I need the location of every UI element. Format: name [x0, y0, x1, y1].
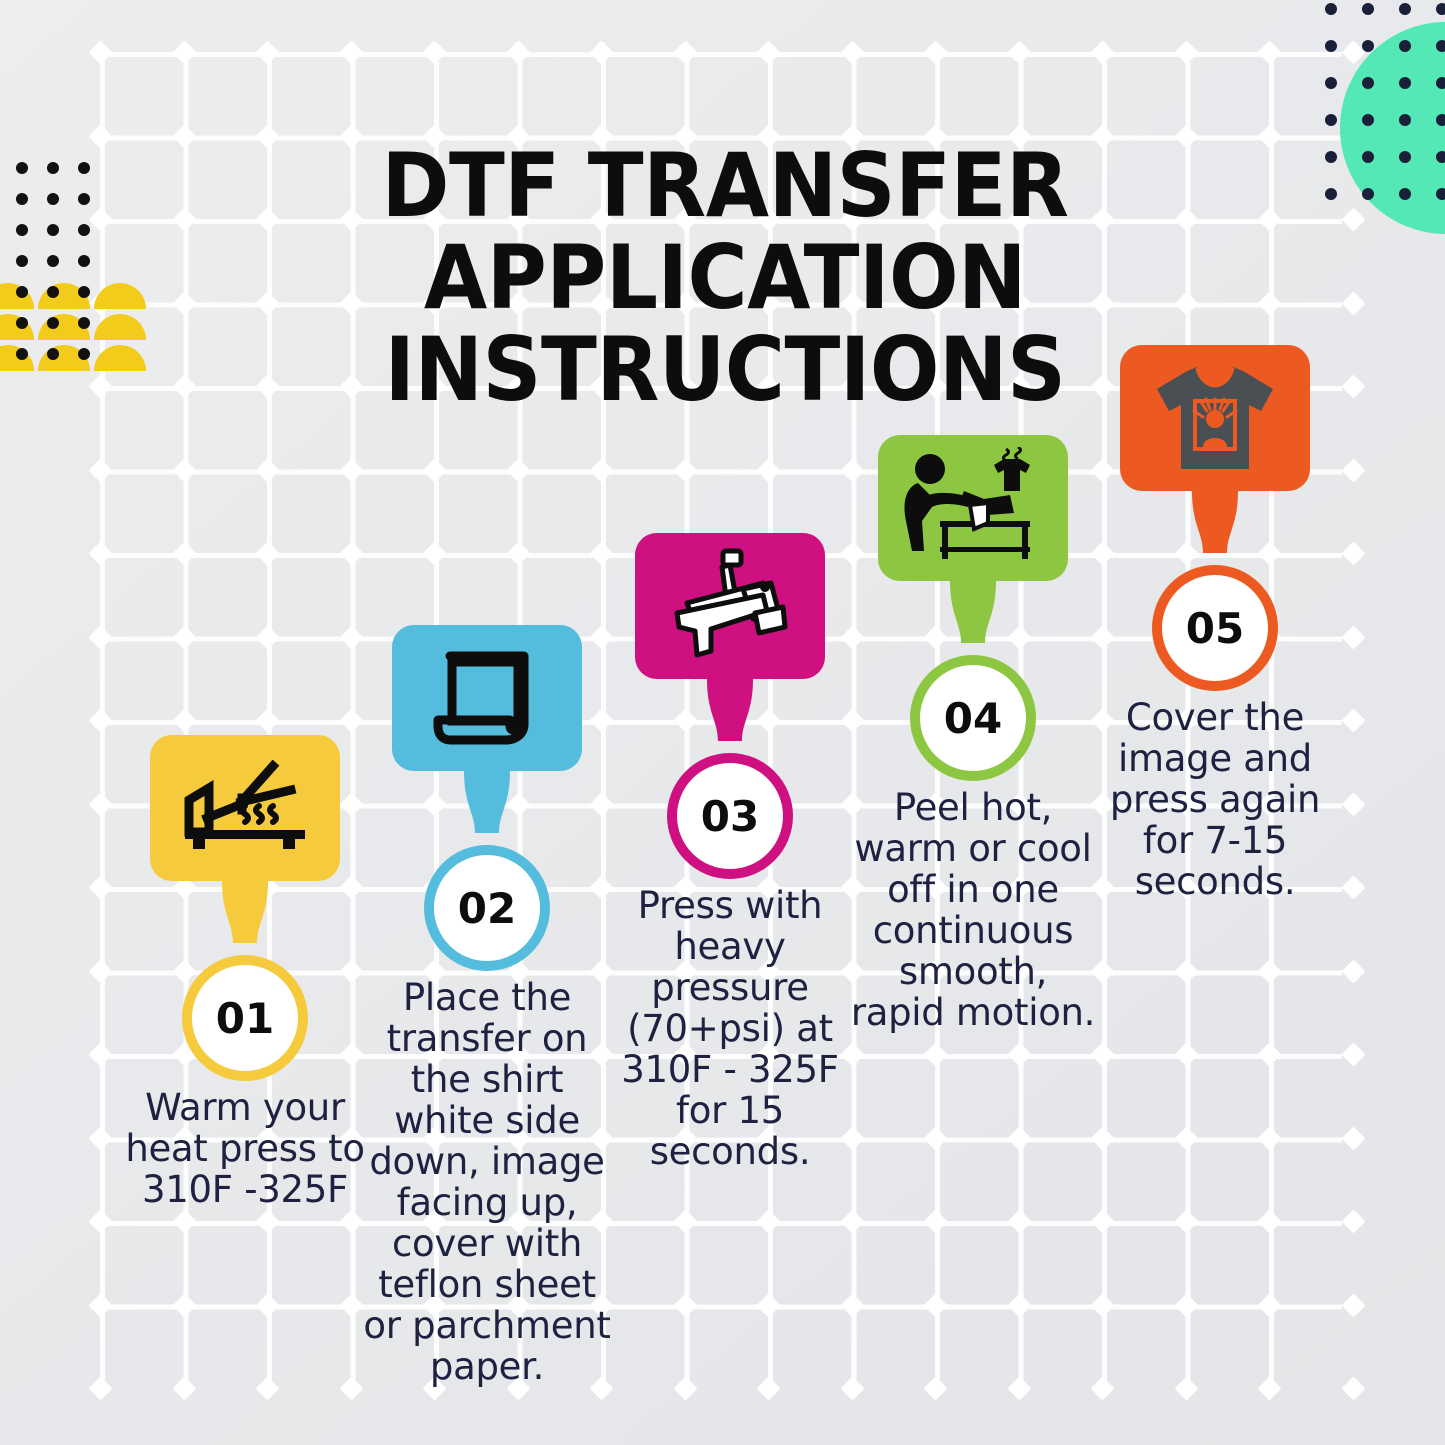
grid-node-diamond — [1090, 40, 1114, 64]
grid-node-diamond — [1174, 40, 1198, 64]
grid-node-diamond — [1257, 1293, 1281, 1317]
step-01-number-bubble[interactable]: 01 — [120, 955, 370, 1081]
grid-node-diamond — [923, 1376, 947, 1400]
grid-node-diamond — [1257, 291, 1281, 315]
grid-node-diamond — [255, 1376, 279, 1400]
step-01-number: 01 — [192, 965, 298, 1071]
decor-dot — [78, 348, 90, 360]
arch-shape — [94, 314, 146, 340]
grid-node-diamond — [1341, 374, 1365, 398]
decor-dot — [16, 286, 28, 298]
grid-node-diamond — [88, 458, 112, 482]
step-04-number-bubble[interactable]: 04 — [848, 655, 1098, 781]
grid-node-diamond — [673, 1293, 697, 1317]
grid-node-diamond — [756, 1376, 780, 1400]
grid-node-diamond — [255, 1293, 279, 1317]
grid-node-diamond — [506, 458, 530, 482]
grid-node-diamond — [88, 1126, 112, 1150]
grid-node-diamond — [255, 1209, 279, 1233]
grid-node-diamond — [172, 1293, 196, 1317]
grid-node-diamond — [589, 625, 613, 649]
grid-node-diamond — [1257, 124, 1281, 148]
grid-node-diamond — [88, 708, 112, 732]
decor-dot — [1325, 151, 1337, 163]
grid-node-diamond — [339, 541, 363, 565]
step-05-number: 05 — [1162, 575, 1268, 681]
step-02-number-bubble[interactable]: 02 — [362, 845, 612, 971]
grid-node-diamond — [1257, 40, 1281, 64]
grid-node-diamond — [1257, 207, 1281, 231]
grid-node-diamond — [840, 458, 864, 482]
grid-node-diamond — [1341, 291, 1365, 315]
grid-node-diamond — [1341, 792, 1365, 816]
grid-node-diamond — [1341, 1376, 1365, 1400]
grid-node-diamond — [88, 1376, 112, 1400]
decor-dot — [1325, 3, 1337, 15]
grid-node-diamond — [1174, 1126, 1198, 1150]
decor-dot — [1399, 40, 1411, 52]
grid-node-diamond — [255, 458, 279, 482]
grid-node-diamond — [172, 1209, 196, 1233]
grid-node-diamond — [1257, 1376, 1281, 1400]
grid-node-diamond — [1090, 1126, 1114, 1150]
grid-node-diamond — [840, 541, 864, 565]
grid-node-diamond — [1341, 625, 1365, 649]
grid-node-diamond — [506, 541, 530, 565]
grid-node-diamond — [88, 374, 112, 398]
decor-dot — [47, 317, 59, 329]
grid-node-diamond — [1090, 1209, 1114, 1233]
grid-node-diamond — [88, 1293, 112, 1317]
decor-dot — [1436, 188, 1445, 200]
decor-dot — [1325, 40, 1337, 52]
grid-node-diamond — [1090, 1042, 1114, 1066]
decor-dot — [47, 255, 59, 267]
grid-node-diamond — [1174, 1376, 1198, 1400]
grid-node-diamond — [840, 40, 864, 64]
grid-node-diamond — [1174, 1042, 1198, 1066]
decor-dot — [1399, 3, 1411, 15]
grid-node-diamond — [1341, 1126, 1365, 1150]
decor-dot — [16, 224, 28, 236]
grid-node-diamond — [1341, 1042, 1365, 1066]
decor-dot — [16, 162, 28, 174]
grid-node-diamond — [339, 458, 363, 482]
decor-dot — [78, 162, 90, 174]
grid-node-diamond — [1007, 1376, 1031, 1400]
grid-node-diamond — [589, 40, 613, 64]
grid-node-diamond — [1090, 1376, 1114, 1400]
grid-node-diamond — [1007, 1042, 1031, 1066]
decor-dot — [1399, 77, 1411, 89]
step-03-caption: Press with heavy pressure (70+psi) at 31… — [605, 885, 855, 1172]
decor-dot — [1362, 114, 1374, 126]
grid-node-diamond — [923, 40, 947, 64]
decor-dot — [1325, 77, 1337, 89]
arch-shape — [94, 283, 146, 309]
decor-dot — [1436, 151, 1445, 163]
grid-node-diamond — [1341, 207, 1365, 231]
grid-node-diamond — [88, 40, 112, 64]
decor-dot — [1399, 151, 1411, 163]
decor-dot — [1325, 114, 1337, 126]
step-04-caption: Peel hot, warm or cool off in one contin… — [848, 787, 1098, 1033]
decor-dot — [1399, 114, 1411, 126]
grid-node-diamond — [1090, 1293, 1114, 1317]
decor-dot — [78, 255, 90, 267]
decor-dot — [1362, 77, 1374, 89]
grid-node-diamond — [923, 1293, 947, 1317]
grid-node-diamond — [756, 1293, 780, 1317]
step-05-card[interactable] — [1120, 345, 1310, 491]
grid-node-diamond — [255, 40, 279, 64]
grid-node-diamond — [339, 40, 363, 64]
decor-dot — [1362, 3, 1374, 15]
grid-node-diamond — [88, 207, 112, 231]
decor-dot — [16, 348, 28, 360]
decor-dot — [1399, 188, 1411, 200]
heat-press-open-icon — [179, 760, 311, 856]
grid-node-diamond — [1007, 1209, 1031, 1233]
grid-node-diamond — [255, 541, 279, 565]
page-title: DTF TRANSFER APPLICATION INSTRUCTIONS — [190, 140, 1260, 416]
grid-node-diamond — [1257, 1042, 1281, 1066]
grid-node-diamond — [339, 1376, 363, 1400]
grid-node-diamond — [339, 625, 363, 649]
decor-dot — [78, 193, 90, 205]
decor-dot — [47, 224, 59, 236]
decor-dot — [1436, 114, 1445, 126]
grid-node-diamond — [339, 1209, 363, 1233]
grid-node-diamond — [88, 1209, 112, 1233]
grid-node-diamond — [1257, 1209, 1281, 1233]
grid-node-diamond — [840, 1376, 864, 1400]
transfer-sheet-icon — [432, 646, 542, 750]
grid-node-diamond — [88, 541, 112, 565]
decor-dot — [1325, 188, 1337, 200]
grid-node-diamond — [923, 1042, 947, 1066]
decor-dot — [16, 317, 28, 329]
decor-dot — [78, 286, 90, 298]
grid-node-diamond — [756, 1209, 780, 1233]
decor-dot — [16, 255, 28, 267]
grid-node-diamond — [339, 792, 363, 816]
decor-dot — [1362, 188, 1374, 200]
grid-node-diamond — [88, 625, 112, 649]
decor-dot — [47, 348, 59, 360]
grid-node-diamond — [1341, 1209, 1365, 1233]
grid-node-diamond — [255, 708, 279, 732]
step-03-number: 03 — [677, 763, 783, 869]
decor-dot — [78, 224, 90, 236]
decor-dot — [47, 162, 59, 174]
grid-node-diamond — [1341, 708, 1365, 732]
decor-dot — [1436, 3, 1445, 15]
grid-node-diamond — [1007, 1126, 1031, 1150]
grid-node-diamond — [255, 625, 279, 649]
grid-node-diamond — [1341, 541, 1365, 565]
grid-node-diamond — [840, 1293, 864, 1317]
decor-dot — [78, 317, 90, 329]
grid-node-diamond — [422, 40, 446, 64]
step-02-caption: Place the transfer on the shirt white si… — [362, 977, 612, 1387]
grid-node-diamond — [1341, 875, 1365, 899]
decor-dot — [1362, 40, 1374, 52]
step-03-card[interactable] — [635, 533, 825, 679]
step-05-number-bubble[interactable]: 05 — [1090, 565, 1340, 691]
step-02-number: 02 — [434, 855, 540, 961]
grid-node-diamond — [506, 40, 530, 64]
grid-node-diamond — [673, 1376, 697, 1400]
decor-dot — [47, 286, 59, 298]
arch-shape — [94, 345, 146, 371]
decor-dot — [16, 193, 28, 205]
grid-node-diamond — [88, 875, 112, 899]
grid-node-diamond — [756, 40, 780, 64]
grid-node-diamond — [589, 541, 613, 565]
step-01-card[interactable] — [150, 735, 340, 881]
grid-node-diamond — [1174, 959, 1198, 983]
grid-node-diamond — [1341, 458, 1365, 482]
grid-node-diamond — [88, 959, 112, 983]
step-01-caption: Warm your heat press to 310F -325F — [120, 1087, 370, 1210]
grid-node-diamond — [1007, 40, 1031, 64]
grid-node-diamond — [673, 40, 697, 64]
grid-node-diamond — [840, 1209, 864, 1233]
grid-node-diamond — [1090, 458, 1114, 482]
grid-node-diamond — [1007, 1293, 1031, 1317]
grid-node-diamond — [422, 541, 446, 565]
grid-node-diamond — [589, 458, 613, 482]
grid-node-diamond — [172, 708, 196, 732]
grid-node-diamond — [1341, 959, 1365, 983]
infographic-canvas: DTF TRANSFER APPLICATION INSTRUCTIONS — [0, 0, 1445, 1445]
step-04-card[interactable] — [878, 435, 1068, 581]
grid-node-diamond — [923, 1126, 947, 1150]
grid-node-diamond — [1257, 959, 1281, 983]
grid-node-diamond — [339, 708, 363, 732]
decor-dot — [1436, 77, 1445, 89]
decor-dot — [1362, 151, 1374, 163]
grid-node-diamond — [88, 124, 112, 148]
decor-dot — [47, 193, 59, 205]
step-03-number-bubble[interactable]: 03 — [605, 753, 855, 879]
step-05-caption: Cover the image and press again for 7-15… — [1090, 697, 1340, 902]
step-04-number: 04 — [920, 665, 1026, 771]
grid-node-diamond — [88, 1042, 112, 1066]
grid-node-diamond — [172, 458, 196, 482]
grid-node-diamond — [88, 792, 112, 816]
grid-node-diamond — [673, 1209, 697, 1233]
grid-node-diamond — [1174, 1209, 1198, 1233]
mint-circle — [1340, 22, 1445, 234]
grid-node-diamond — [923, 1209, 947, 1233]
grid-node-diamond — [172, 1376, 196, 1400]
grid-node-diamond — [172, 625, 196, 649]
grid-node-diamond — [1341, 1293, 1365, 1317]
grid-node-diamond — [339, 1293, 363, 1317]
decor-dot — [1436, 40, 1445, 52]
printed-tshirt-icon — [1151, 361, 1279, 475]
grid-node-diamond — [1174, 1293, 1198, 1317]
grid-node-diamond — [172, 40, 196, 64]
grid-node-diamond — [422, 458, 446, 482]
grid-node-diamond — [1257, 1126, 1281, 1150]
grid-node-diamond — [172, 541, 196, 565]
grid-node-diamond — [673, 458, 697, 482]
person-peeling-transfer-icon — [898, 447, 1048, 569]
step-02-card[interactable] — [392, 625, 582, 771]
heat-press-machine-icon — [667, 547, 793, 665]
grid-node-diamond — [756, 458, 780, 482]
